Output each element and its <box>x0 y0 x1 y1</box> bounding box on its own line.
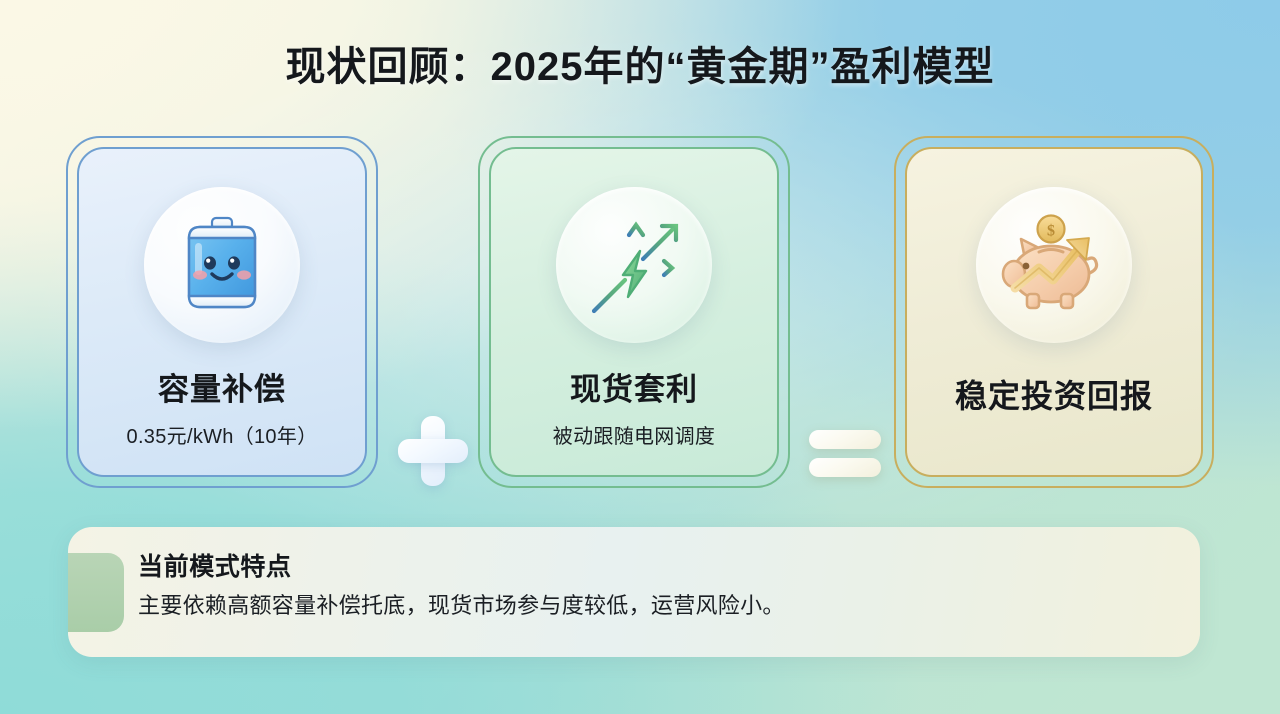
equals-operator-icon <box>802 408 888 494</box>
grid-lightning-chart-icon <box>580 211 688 319</box>
card-title: 现货套利 <box>570 373 698 407</box>
card-inner: $ <box>905 147 1203 477</box>
icon-disc <box>556 187 712 343</box>
card-subtitle: 0.35元/kWh（10年） <box>127 420 318 449</box>
svg-text:$: $ <box>1047 223 1055 240</box>
panel-accent-bar <box>68 553 124 632</box>
summary-panel: 当前模式特点 主要依赖高额容量补偿托底，现货市场参与度较低，运营风险小。 <box>68 527 1200 657</box>
panel-description: 主要依赖高额容量补偿托底，现货市场参与度较低，运营风险小。 <box>138 592 1176 621</box>
equals-top-bar <box>809 430 881 449</box>
card-spot-arbitrage[interactable]: 现货套利 被动跟随电网调度 <box>478 136 790 488</box>
panel-body: 当前模式特点 主要依赖高额容量补偿托底，现货市场参与度较低，运营风险小。 <box>138 552 1176 621</box>
card-stable-return[interactable]: $ <box>894 136 1214 488</box>
page-title: 现状回顾：2025年的“黄金期”盈利模型 <box>0 34 1280 92</box>
plus-operator-icon <box>390 408 476 494</box>
card-subtitle: 被动跟随电网调度 <box>553 420 715 449</box>
piggy-bank-growth-icon: $ <box>999 212 1109 318</box>
card-title: 容量补偿 <box>158 373 286 407</box>
card-inner: 容量补偿 0.35元/kWh（10年） <box>77 147 367 477</box>
battery-character-icon <box>170 213 274 317</box>
card-capacity-compensation[interactable]: 容量补偿 0.35元/kWh（10年） <box>66 136 378 488</box>
slide-canvas: 现状回顾：2025年的“黄金期”盈利模型 <box>0 0 1280 714</box>
equals-bottom-bar <box>809 458 881 477</box>
plus-horizontal-bar <box>398 439 468 463</box>
card-title: 稳定投资回报 <box>955 379 1153 414</box>
formula-row: 容量补偿 0.35元/kWh（10年） <box>0 136 1280 488</box>
panel-title: 当前模式特点 <box>138 552 1176 582</box>
icon-disc <box>144 187 300 343</box>
icon-disc: $ <box>976 187 1132 343</box>
card-inner: 现货套利 被动跟随电网调度 <box>489 147 779 477</box>
